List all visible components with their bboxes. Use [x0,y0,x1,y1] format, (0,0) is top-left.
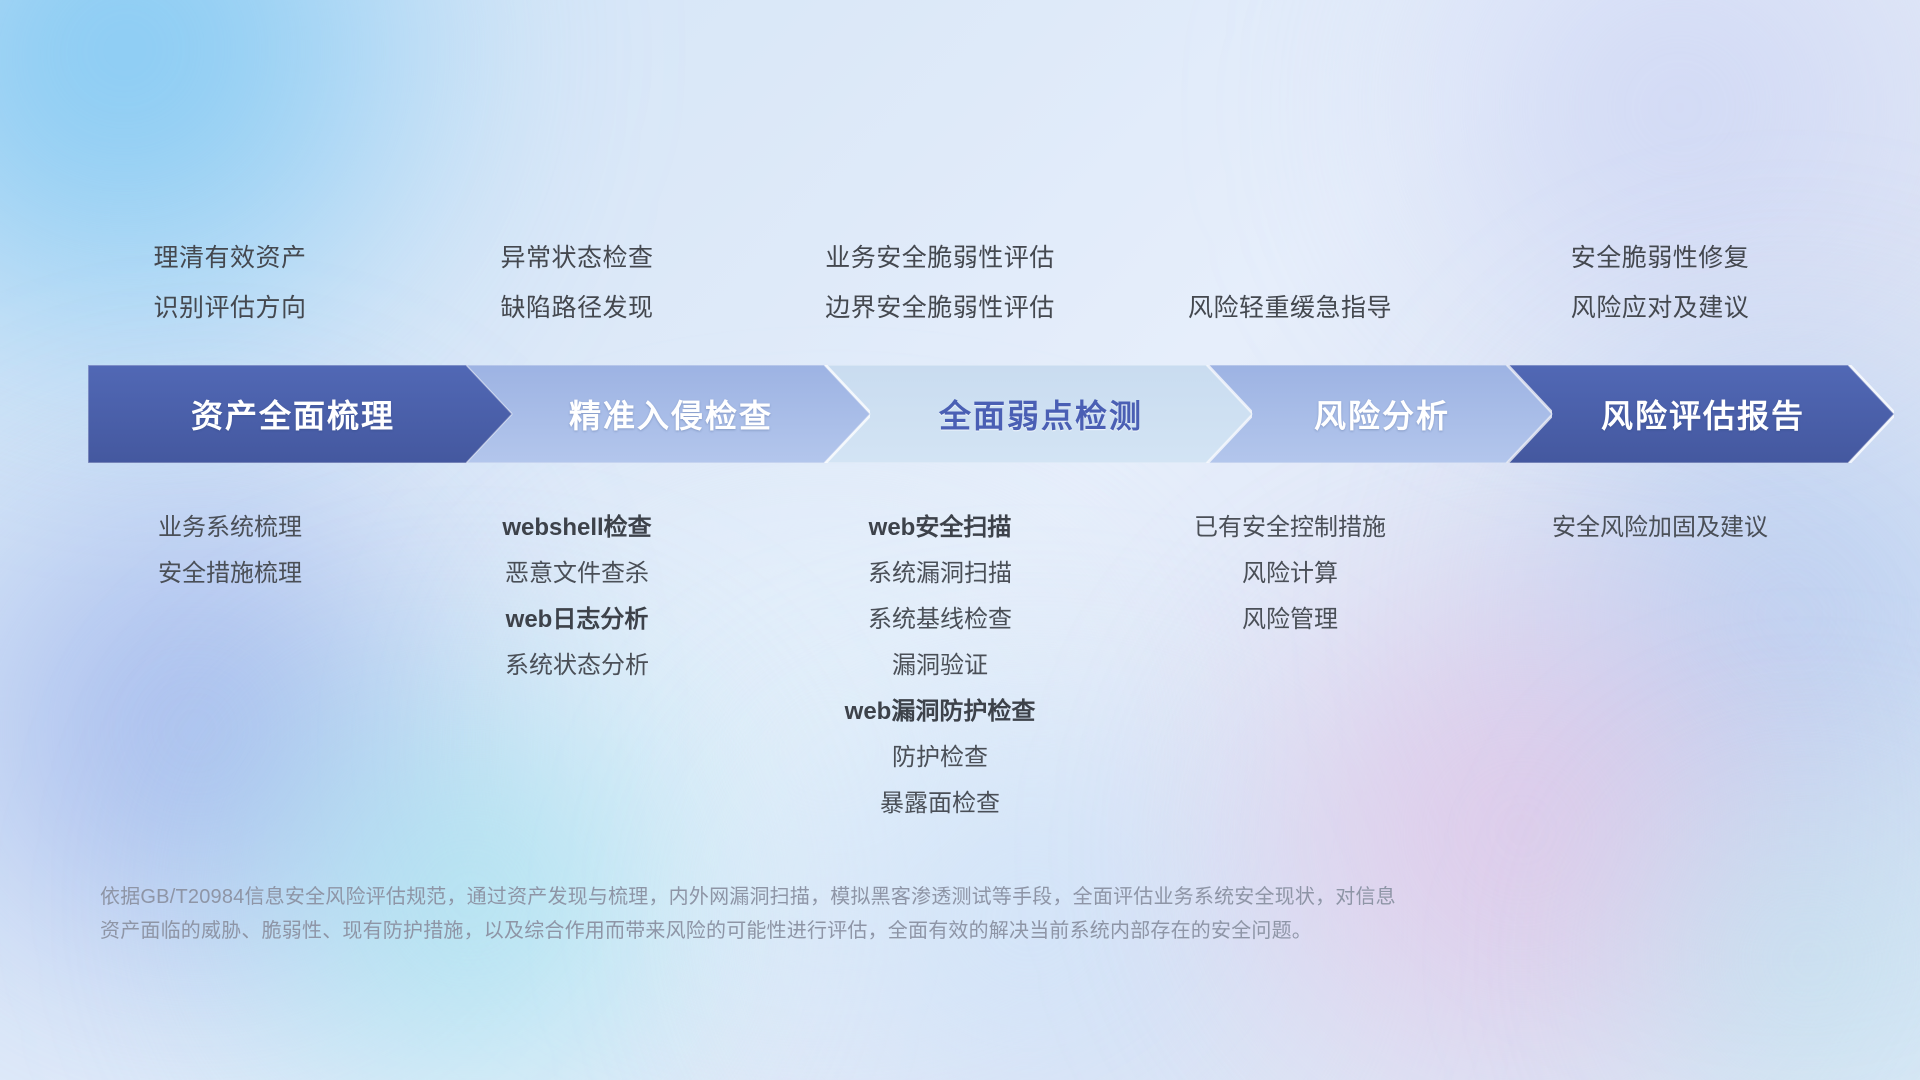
stage-top-items-risk-report: 安全脆弱性修复风险应对及建议 [1360,233,1920,333]
stage-bottom-item: 暴露面检查 [640,781,1240,827]
process-stage-risk-report[interactable]: 风险评估报告 [1506,365,1894,463]
stage-bottom-item: 防护检查 [640,735,1240,781]
stage-bottom-item: web漏洞防护检查 [640,689,1240,735]
process-stage-risk-analysis[interactable]: 风险分析 [1206,365,1552,463]
stage-top-item: 安全脆弱性修复 [1360,233,1920,283]
stage-top-item: 业务安全脆弱性评估 [640,233,1240,283]
process-stage-intrusion-check[interactable]: 精准入侵检查 [466,365,870,463]
footer-description: 依据GB/T20984信息安全风险评估规范，通过资产发现与梳理，内外网漏洞扫描，… [100,880,1680,948]
stage-bottom-item: 漏洞验证 [640,643,1240,689]
process-stage-asset-review[interactable]: 资产全面梳理 [88,365,512,463]
process-stage-title: 全面弱点检测 [939,391,1143,437]
stage-bottom-items-risk-report: 安全风险加固及建议 [1360,505,1920,551]
process-stage-title: 风险评估报告 [1601,391,1805,437]
stage-bottom-item: 风险管理 [990,597,1590,643]
process-stage-title: 资产全面梳理 [191,391,395,437]
stage-bottom-item: 安全风险加固及建议 [1360,505,1920,551]
process-chevron-band: 资产全面梳理精准入侵检查全面弱点检测风险分析风险评估报告 [88,365,1848,463]
stage-bottom-item: 风险计算 [990,551,1590,597]
infographic-canvas: 理清有效资产识别评估方向 异常状态检查缺陷路径发现 业务安全脆弱性评估边界安全脆… [0,0,1920,1080]
footer-line-2: 资产面临的威胁、脆弱性、现有防护措施，以及综合作用而带来风险的可能性进行评估，全… [100,914,1680,948]
process-stage-title: 风险分析 [1314,391,1450,437]
footer-line-1: 依据GB/T20984信息安全风险评估规范，通过资产发现与梳理，内外网漏洞扫描，… [100,880,1680,914]
process-stage-weakness-detection[interactable]: 全面弱点检测 [824,365,1252,463]
stage-top-item: 风险应对及建议 [1360,283,1920,333]
process-stage-title: 精准入侵检查 [569,391,773,437]
